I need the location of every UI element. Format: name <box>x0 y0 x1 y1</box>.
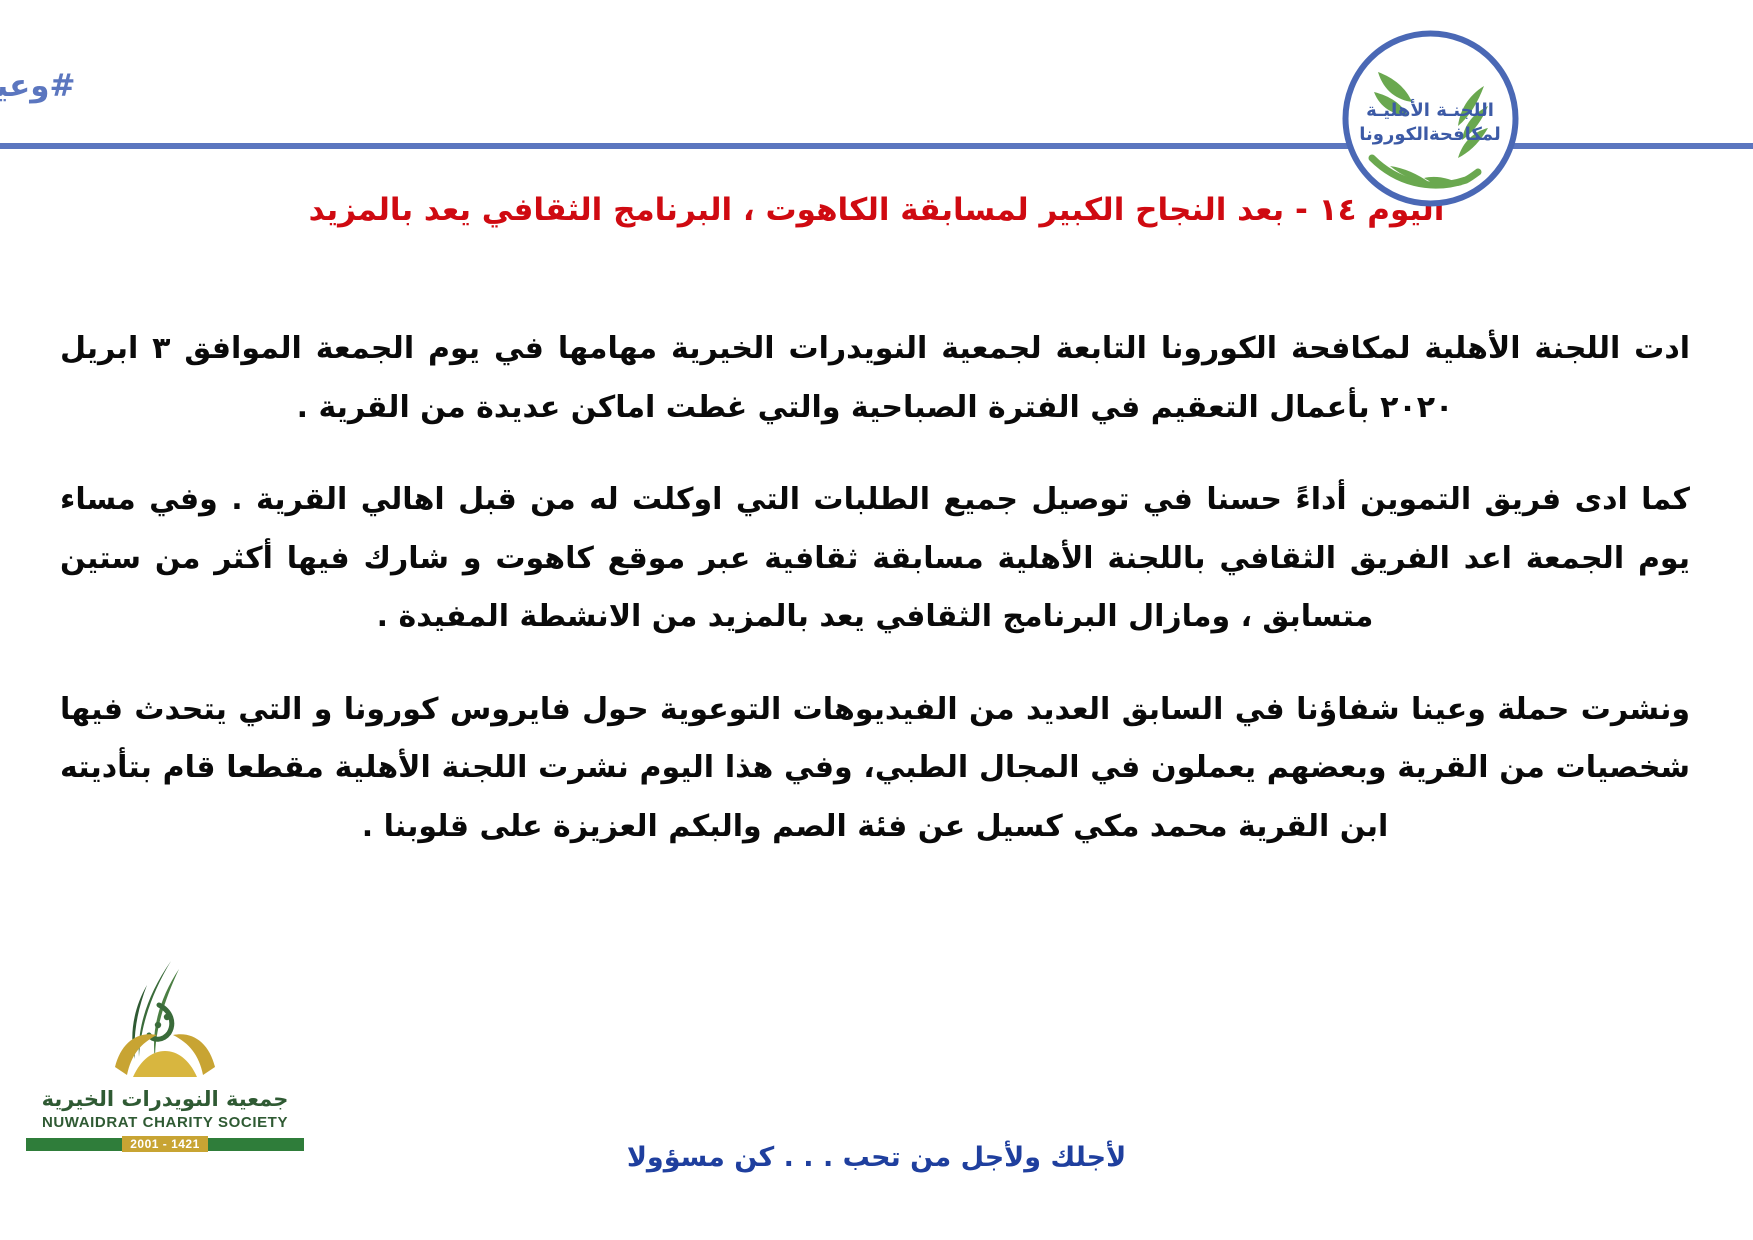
body-paragraph-2: كما ادى فريق التموين أداءً حسنا في توصيل… <box>60 471 1690 647</box>
campaign-hashtag: #وعينا ـ شفاؤنا <box>0 68 253 104</box>
body-paragraph-1: ادت اللجنة الأهلية لمكافحة الكورونا التا… <box>60 320 1690 437</box>
committee-logo: اللجنـة الأهليـة لمكافحةالكورونا <box>1338 26 1523 211</box>
charity-name-english: NUWAIDRAT CHARITY SOCIETY <box>20 1114 310 1131</box>
body-paragraph-3: ونشرت حملة وعينا شفاؤنا في السابق العديد… <box>60 681 1690 857</box>
charity-name-arabic: جمعية النويدرات الخيرية <box>20 1087 310 1111</box>
charity-society-logo: جمعية النويدرات الخيرية NUWAIDRAT CHARIT… <box>20 955 310 1170</box>
article-body: ادت اللجنة الأهلية لمكافحة الكورونا التا… <box>60 320 1690 856</box>
committee-logo-line2: لمكافحةالكورونا <box>1359 124 1500 145</box>
charity-calligraphy-mark <box>75 955 255 1085</box>
footer-slogan: لأجلك ولأجل من تحب . . . كن مسؤولا <box>0 1142 1753 1173</box>
committee-logo-line1: اللجنـة الأهليـة <box>1366 99 1494 121</box>
